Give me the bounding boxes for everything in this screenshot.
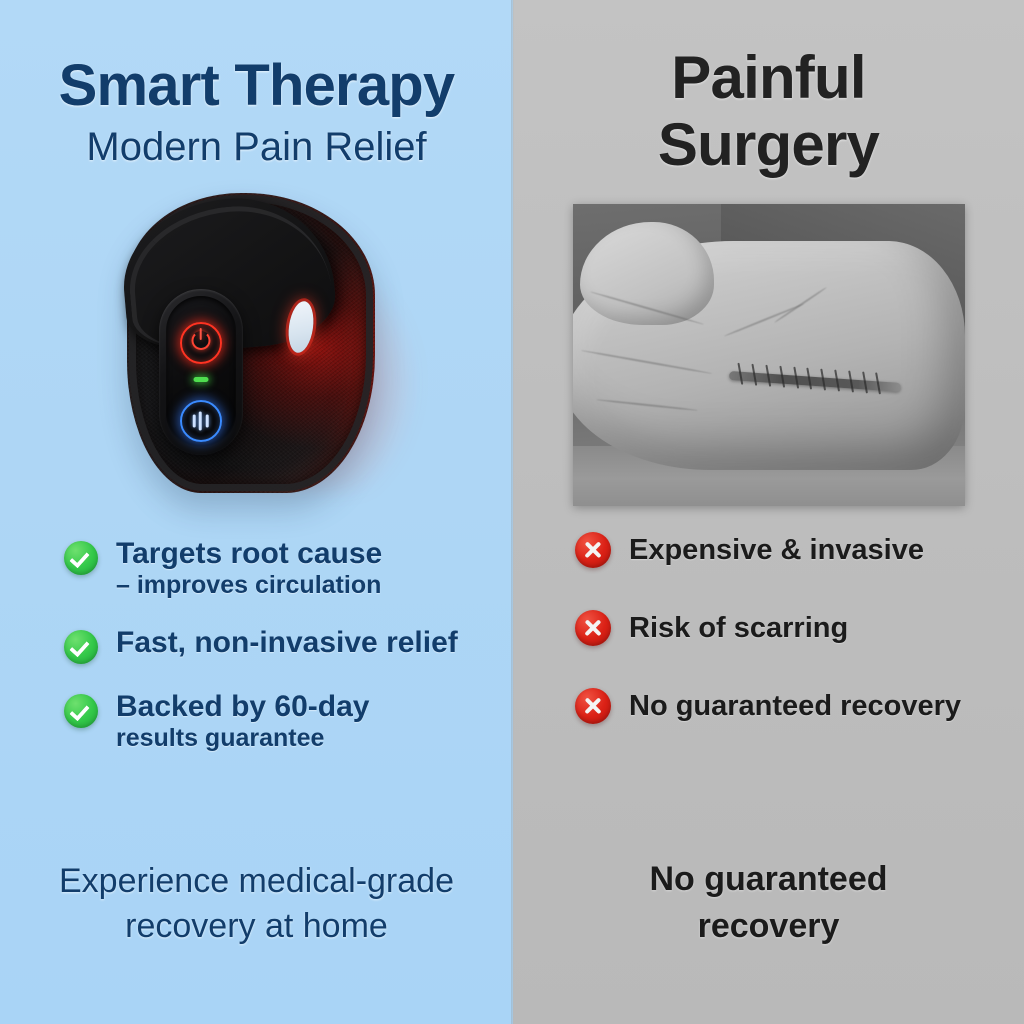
benefit-text: Targets root cause – improves circulatio… [116,537,382,600]
power-icon-stem [199,328,202,340]
check-icon [64,694,98,728]
panel-divider [511,0,514,1024]
status-led-icon [193,377,208,382]
surgical-scar-photo [573,204,965,506]
list-item: Targets root cause – improves circulatio… [64,537,495,600]
x-icon [575,688,611,724]
vibration-icon [192,412,209,431]
drawback-text: No guaranteed recovery [629,690,961,723]
check-icon [64,630,98,664]
benefit-sub: – improves circulation [116,571,382,600]
right-heading-block: Painful Surgery [513,0,1024,178]
product-device-image [107,181,407,511]
left-panel-smart-therapy: Smart Therapy Modern Pain Relief [0,0,513,1024]
drawback-text: Risk of scarring [629,612,848,645]
comparison-poster: Smart Therapy Modern Pain Relief [0,0,1024,1024]
right-panel-title-line-2: Surgery [513,111,1024,178]
left-footer-line-1: Experience medical-grade [40,859,473,905]
x-icon [575,532,611,568]
list-item: Backed by 60-day results guarantee [64,690,495,753]
drawback-text: Expensive & invasive [629,534,924,567]
power-button[interactable] [180,322,222,364]
benefit-text: Backed by 60-day results guarantee [116,690,369,753]
list-item: Risk of scarring [575,610,1014,646]
benefit-main: Backed by 60-day [116,690,369,723]
list-item: Fast, non-invasive relief [64,626,495,664]
control-pod-face [166,296,236,448]
left-panel-title: Smart Therapy [0,56,513,115]
check-icon [64,541,98,575]
x-icon [575,610,611,646]
vibration-button[interactable] [180,400,222,442]
left-footer-tagline: Experience medical-grade recovery at hom… [0,859,513,950]
benefit-main: Fast, non-invasive relief [116,626,458,659]
benefits-list: Targets root cause – improves circulatio… [0,537,513,778]
list-item: Expensive & invasive [575,532,1014,568]
left-heading-block: Smart Therapy Modern Pain Relief [0,0,513,169]
left-footer-line-2: recovery at home [40,904,473,950]
right-panel-painful-surgery: Painful Surgery [513,0,1024,1024]
benefit-sub: results guarantee [116,724,369,753]
list-item: No guaranteed recovery [575,688,1014,724]
control-pod[interactable] [159,289,243,455]
right-footer-line-2: recovery [553,903,984,950]
right-footer-tagline: No guaranteed recovery [513,856,1024,950]
drawbacks-list: Expensive & invasive Risk of scarring No… [513,532,1024,766]
benefit-main: Targets root cause [116,537,382,570]
right-footer-line-1: No guaranteed [553,856,984,903]
left-panel-subtitle: Modern Pain Relief [0,125,513,169]
right-panel-title-line-1: Painful [513,44,1024,111]
benefit-text: Fast, non-invasive relief [116,626,458,660]
thumb-shape [580,222,713,325]
